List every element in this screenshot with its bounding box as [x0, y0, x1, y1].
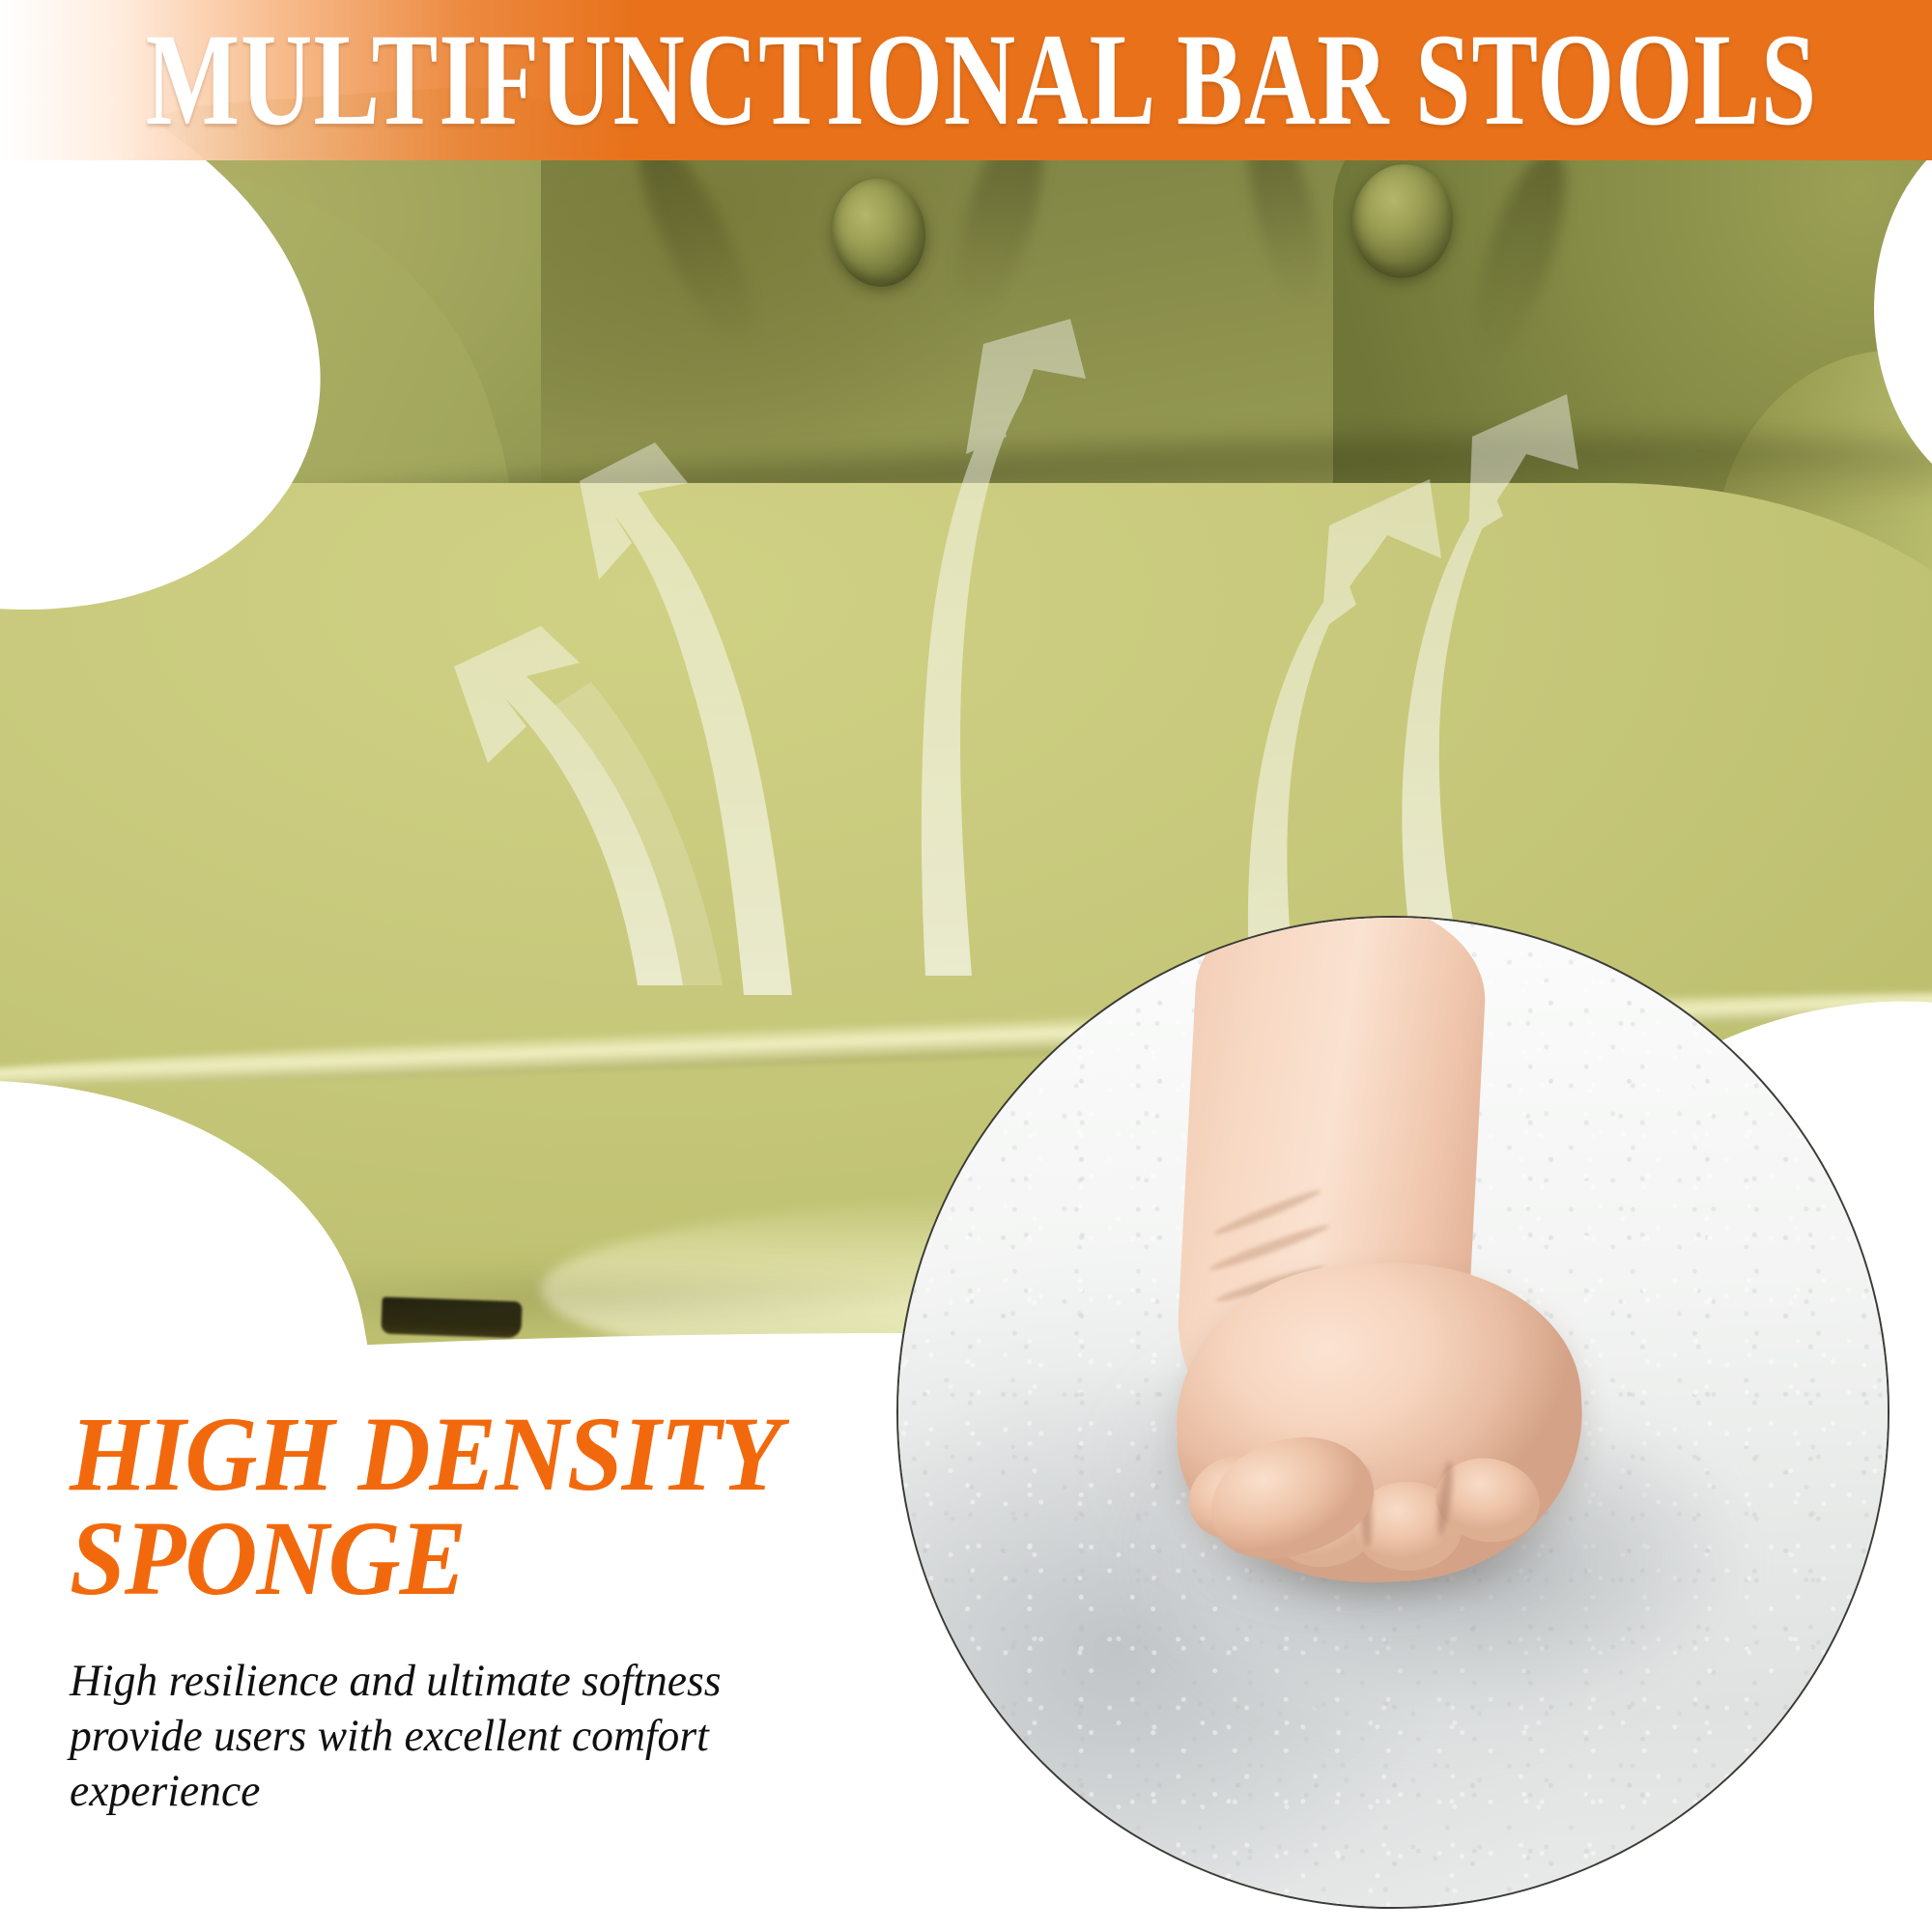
feature-headline-line2: SPONGE — [70, 1507, 871, 1611]
foam-compression-inset — [896, 916, 1889, 1909]
product-marketing-banner: MULTIFUNCTIONAL BAR STOOLS HIGH DENSITYS… — [0, 0, 1932, 1932]
feature-headline-line1: HIGH DENSITY — [70, 1396, 781, 1514]
header-banner: MULTIFUNCTIONAL BAR STOOLS — [0, 0, 1932, 160]
feature-headline: HIGH DENSITYSPONGE — [70, 1403, 871, 1611]
feature-copy-block: HIGH DENSITYSPONGE High resilience and u… — [70, 1403, 871, 1820]
feature-body-text: High resilience and ultimate softness pr… — [70, 1654, 810, 1820]
banner-title: MULTIFUNCTIONAL BAR STOOLS — [115, 14, 1817, 147]
